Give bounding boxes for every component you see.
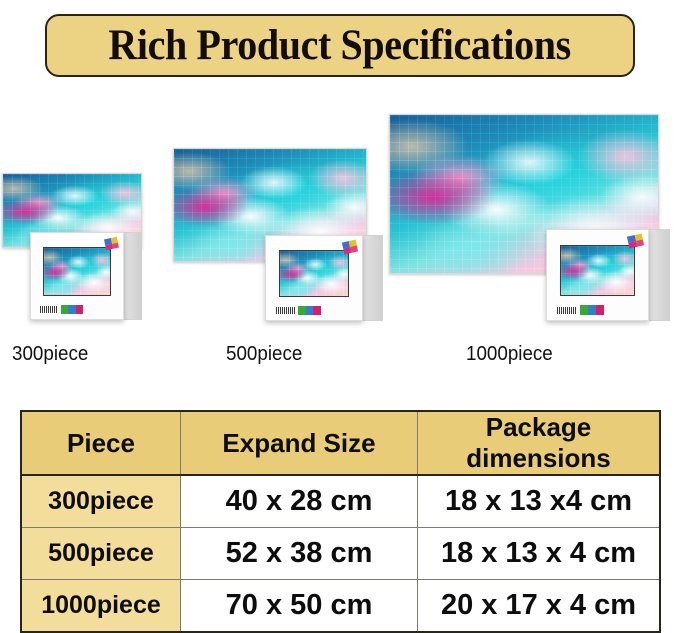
cell-package-dimensions: 18 x 13 x4 cm <box>418 475 661 528</box>
caption-500piece: 500piece <box>226 343 302 366</box>
column-header-piece: Piece <box>21 411 181 475</box>
cell-piece: 1000piece <box>21 580 181 633</box>
cloud-artwork <box>280 251 348 296</box>
table-row: 300piece 40 x 28 cm 18 x 13 x4 cm <box>21 475 660 528</box>
cloud-artwork <box>561 246 634 295</box>
package-box-1000piece <box>546 229 670 321</box>
cell-piece: 300piece <box>21 475 181 528</box>
caption-300piece: 300piece <box>12 343 88 366</box>
table-header-row: Piece Expand Size Package dimensions <box>21 411 660 475</box>
cell-expand-size: 52 x 38 cm <box>181 528 418 580</box>
brand-color-mark <box>298 306 321 315</box>
barcode <box>40 306 58 313</box>
box-artwork-window <box>560 245 635 296</box>
cell-package-dimensions: 20 x 17 x 4 cm <box>418 580 661 633</box>
box-front-panel <box>30 232 124 320</box>
table-row: 500piece 52 x 38 cm 18 x 13 x 4 cm <box>21 528 660 580</box>
table-row: 1000piece 70 x 50 cm 20 x 17 x 4 cm <box>21 580 660 633</box>
barcode <box>276 307 295 314</box>
column-header-package-dimensions: Package dimensions <box>418 411 661 475</box>
box-artwork-window <box>43 247 111 296</box>
box-front-panel <box>546 229 649 321</box>
cell-piece: 500piece <box>21 528 181 580</box>
header-banner: Rich Product Specifications <box>45 14 635 77</box>
caption-1000piece: 1000piece <box>466 343 553 366</box>
cell-package-dimensions: 18 x 13 x 4 cm <box>418 528 661 580</box>
cell-expand-size: 70 x 50 cm <box>181 580 418 633</box>
cloud-artwork <box>44 248 110 295</box>
package-box-300piece <box>30 232 142 320</box>
puzzle-piece-logo <box>627 234 644 249</box>
cell-expand-size: 40 x 28 cm <box>181 475 418 528</box>
column-header-expand-size: Expand Size <box>181 411 418 475</box>
barcode <box>557 307 577 314</box>
puzzle-piece-logo <box>104 237 119 250</box>
specifications-table: Piece Expand Size Package dimensions 300… <box>20 410 661 633</box>
page-title: Rich Product Specifications <box>109 24 571 67</box>
box-front-panel <box>265 235 363 321</box>
brand-color-mark <box>61 305 83 314</box>
brand-color-mark <box>580 305 604 315</box>
puzzle-piece-logo <box>342 240 358 255</box>
box-artwork-window <box>279 250 349 297</box>
package-box-500piece <box>265 235 383 321</box>
product-showcase: 300piece 500piece <box>0 100 679 375</box>
